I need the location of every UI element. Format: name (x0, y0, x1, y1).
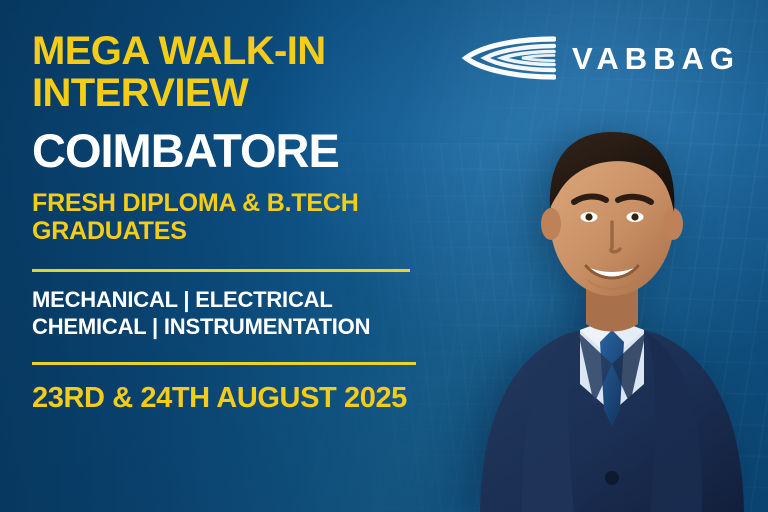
event-dates: 23RD & 24TH AUGUST 2025 (32, 383, 432, 415)
disciplines: MECHANICAL | ELECTRICAL CHEMICAL | INSTR… (32, 286, 432, 341)
city-title: COIMBATORE (32, 127, 432, 176)
headline-line-2: INTERVIEW (32, 71, 248, 115)
divider-bottom (32, 362, 416, 365)
eligibility: FRESH DIPLOMA & B.TECH GRADUATES (32, 189, 432, 246)
banner-text-block: MEGA WALK-IN INTERVIEW COIMBATORE FRESH … (32, 30, 432, 415)
businessman-photo (462, 12, 762, 512)
divider-top (32, 269, 410, 272)
recruitment-banner: VABBAG (0, 0, 768, 512)
disciplines-line-1: MECHANICAL | ELECTRICAL (32, 287, 333, 312)
eligibility-line-2: GRADUATES (32, 217, 187, 245)
headline: MEGA WALK-IN INTERVIEW (32, 30, 432, 114)
headline-line-1: MEGA WALK-IN (32, 29, 326, 73)
eligibility-line-1: FRESH DIPLOMA & B.TECH (32, 189, 359, 217)
disciplines-line-2: CHEMICAL | INSTRUMENTATION (32, 314, 370, 339)
